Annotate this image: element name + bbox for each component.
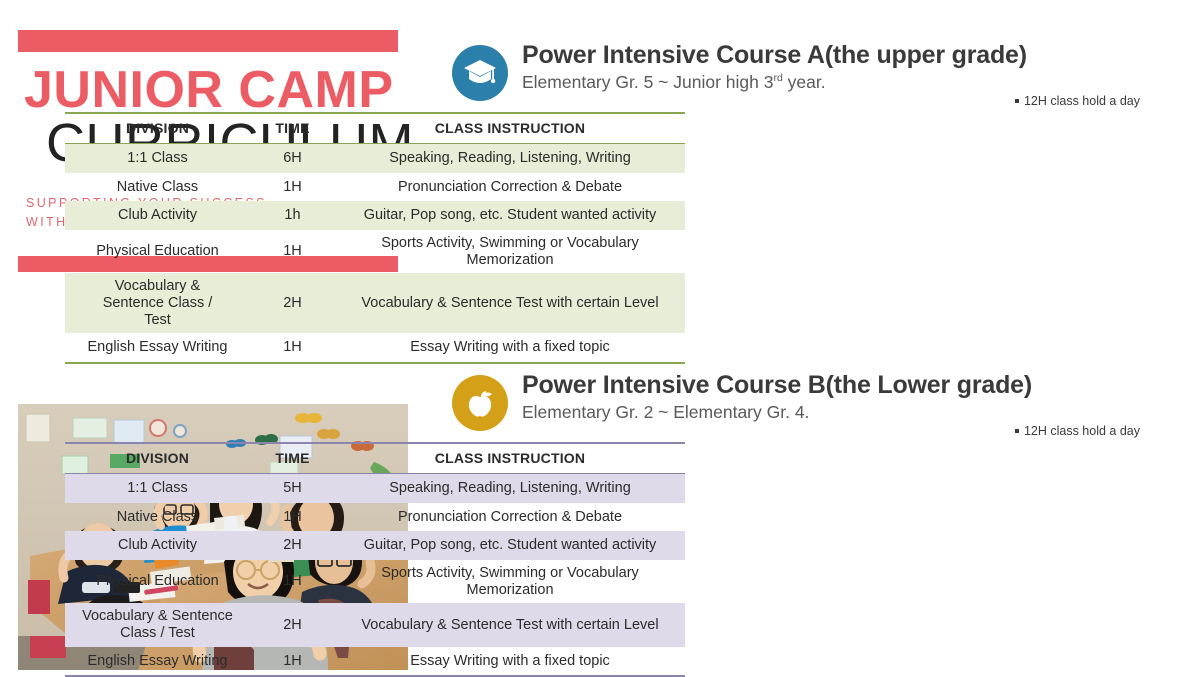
cell-division: Physical Education [65, 560, 250, 603]
cell-instruction: Vocabulary & Sentence Test with certain … [335, 273, 685, 333]
course-a-note: 12H class hold a day [1015, 94, 1140, 108]
course-a-subtitle-sup: rd [773, 72, 782, 84]
cell-division: 1:1 Class [65, 144, 250, 173]
course-b-subtitle: Elementary Gr. 2 ~ Elementary Gr. 4. [522, 402, 1150, 422]
cell-division: 1:1 Class [65, 474, 250, 503]
cell-time: 1H [250, 230, 335, 273]
cell-instruction: Guitar, Pop song, etc. Student wanted ac… [335, 531, 685, 560]
table-row: Club Activity 1h Guitar, Pop song, etc. … [65, 201, 685, 230]
cell-division: Vocabulary & Sentence Class / Test [65, 603, 250, 646]
page-title-primary: JUNIOR CAMP [24, 64, 398, 117]
cell-instruction: Speaking, Reading, Listening, Writing [335, 474, 685, 503]
cell-instruction: Guitar, Pop song, etc. Student wanted ac… [335, 201, 685, 230]
table-b-col-time: TIME [250, 443, 335, 474]
course-b-table: DIVISION TIME CLASS INSTRUCTION 1:1 Clas… [65, 442, 685, 677]
course-b-subtitle-pre: Elementary Gr. 2 ~ Elementary Gr. 4. [522, 402, 809, 422]
course-b-note-text: 12H class hold a day [1024, 424, 1140, 438]
table-a-col-instruction: CLASS INSTRUCTION [335, 113, 685, 144]
cell-time: 1H [250, 560, 335, 603]
course-b-note: 12H class hold a day [1015, 424, 1140, 438]
cell-division: Club Activity [65, 201, 250, 230]
course-a-subtitle: Elementary Gr. 5 ~ Junior high 3rd year. [522, 72, 1150, 92]
cell-time: 1H [250, 333, 335, 363]
cell-division: English Essay Writing [65, 647, 250, 677]
apple-icon [452, 375, 508, 431]
cell-instruction: Sports Activity, Swimming or Vocabulary … [335, 230, 685, 273]
cell-division: Vocabulary & Sentence Class / Test [65, 273, 250, 333]
cell-instruction: Sports Activity, Swimming or Vocabulary … [335, 560, 685, 603]
cell-time: 1H [250, 503, 335, 532]
table-b-col-division: DIVISION [65, 443, 250, 474]
table-b-col-instruction: CLASS INSTRUCTION [335, 443, 685, 474]
table-a-header-row: DIVISION TIME CLASS INSTRUCTION [65, 113, 685, 144]
course-b-header: Power Intensive Course B(the Lower grade… [450, 372, 1150, 434]
table-row: Physical Education 1H Sports Activity, S… [65, 230, 685, 273]
table-a-col-division: DIVISION [65, 113, 250, 144]
course-section-a: Power Intensive Course A(the upper grade… [450, 42, 1150, 104]
table-row: Club Activity 2H Guitar, Pop song, etc. … [65, 531, 685, 560]
bullet-square-icon [1015, 99, 1019, 103]
course-b-title: Power Intensive Course B(the Lower grade… [522, 372, 1150, 400]
table-row: Physical Education 1H Sports Activity, S… [65, 560, 685, 603]
course-a-subtitle-post: year. [783, 72, 826, 92]
cell-instruction: Essay Writing with a fixed topic [335, 333, 685, 363]
graduation-cap-icon [452, 45, 508, 101]
table-row: Vocabulary & Sentence Class / Test 2H Vo… [65, 603, 685, 646]
cell-time: 6H [250, 144, 335, 173]
cell-time: 1H [250, 647, 335, 677]
apple-glyph [464, 387, 496, 419]
graduation-cap-glyph [463, 58, 497, 88]
cell-division: Club Activity [65, 531, 250, 560]
cell-time: 1H [250, 173, 335, 202]
cell-time: 1h [250, 201, 335, 230]
cell-division: English Essay Writing [65, 333, 250, 363]
cell-time: 2H [250, 531, 335, 560]
course-a-note-text: 12H class hold a day [1024, 94, 1140, 108]
table-row: 1:1 Class 5H Speaking, Reading, Listenin… [65, 474, 685, 503]
table-row: English Essay Writing 1H Essay Writing w… [65, 333, 685, 363]
table-row: 1:1 Class 6H Speaking, Reading, Listenin… [65, 144, 685, 173]
table-row: English Essay Writing 1H Essay Writing w… [65, 647, 685, 677]
cell-instruction: Essay Writing with a fixed topic [335, 647, 685, 677]
course-b-heading-text: Power Intensive Course B(the Lower grade… [522, 372, 1150, 422]
course-a-header: Power Intensive Course A(the upper grade… [450, 42, 1150, 104]
course-a-subtitle-pre: Elementary Gr. 5 ~ Junior high 3 [522, 72, 773, 92]
bullet-square-icon [1015, 429, 1019, 433]
cell-instruction: Vocabulary & Sentence Test with certain … [335, 603, 685, 646]
course-a-heading-text: Power Intensive Course A(the upper grade… [522, 42, 1150, 92]
cell-instruction: Speaking, Reading, Listening, Writing [335, 144, 685, 173]
cell-instruction: Pronunciation Correction & Debate [335, 503, 685, 532]
course-a-table: DIVISION TIME CLASS INSTRUCTION 1:1 Clas… [65, 112, 685, 364]
cell-division: Native Class [65, 503, 250, 532]
cell-time: 2H [250, 603, 335, 646]
cell-instruction: Pronunciation Correction & Debate [335, 173, 685, 202]
cell-time: 2H [250, 273, 335, 333]
table-row: Native Class 1H Pronunciation Correction… [65, 173, 685, 202]
top-accent-bar [18, 30, 398, 52]
cell-time: 5H [250, 474, 335, 503]
course-a-title: Power Intensive Course A(the upper grade… [522, 42, 1150, 70]
cell-division: Physical Education [65, 230, 250, 273]
table-b-header-row: DIVISION TIME CLASS INSTRUCTION [65, 443, 685, 474]
cell-division: Native Class [65, 173, 250, 202]
table-row: Native Class 1H Pronunciation Correction… [65, 503, 685, 532]
course-section-b: Power Intensive Course B(the Lower grade… [450, 372, 1150, 434]
table-row: Vocabulary & Sentence Class / Test 2H Vo… [65, 273, 685, 333]
table-a-col-time: TIME [250, 113, 335, 144]
